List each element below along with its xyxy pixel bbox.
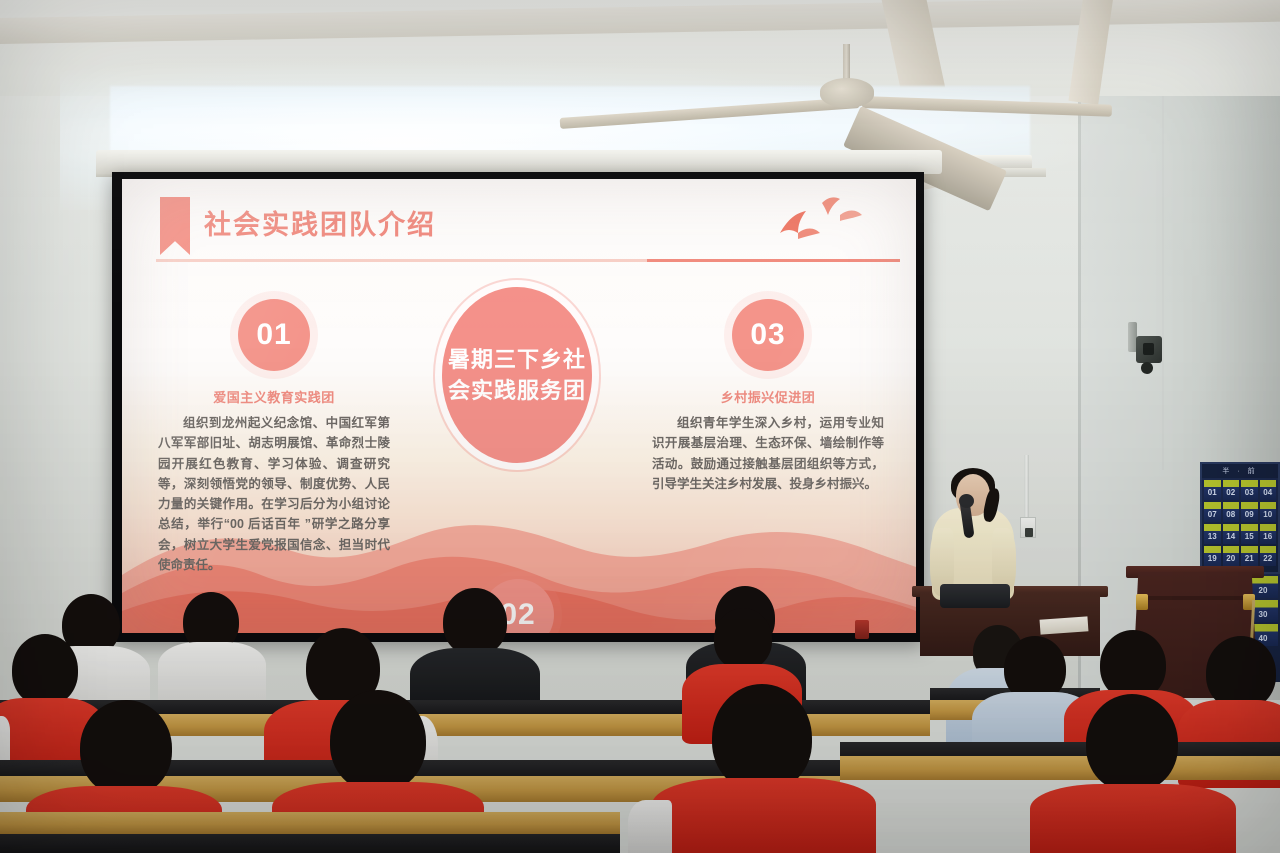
section-heading-01: 爱国主义教育实践团 (168, 387, 380, 406)
projector-screen-roller (96, 150, 942, 174)
number-board-cell: 07 (1204, 502, 1221, 522)
slide-title: 社会实践团队介绍 (204, 203, 436, 242)
number-board-cell: 01 (1204, 480, 1221, 500)
section-number-03: 03 (732, 299, 804, 371)
number-board-cell: 16 (1260, 524, 1277, 544)
center-badge: 暑期三下乡社会实践服务团 (442, 287, 592, 463)
number-board-cell: 13 (1204, 524, 1221, 544)
flying-birds-icon (766, 193, 874, 249)
number-board-grid: 01020304070809101314151619202122 (1202, 478, 1278, 568)
lectern-gold-trim (1136, 594, 1148, 610)
number-board-cell: 21 (1241, 546, 1258, 566)
camera-knob (1141, 362, 1153, 374)
classroom-scene: 社会实践团队介绍 01 03 02 暑期三下乡社会实践服务团 (0, 0, 1280, 853)
lectern-band (1136, 596, 1254, 600)
number-board-cell: 08 (1223, 502, 1240, 522)
number-board-cell: 15 (1241, 524, 1258, 544)
number-board-cell: 14 (1223, 524, 1240, 544)
section-heading-03: 乡村振兴促进团 (662, 387, 874, 406)
section-body-01: 组织到龙州起义纪念馆、中国红军第八军军部旧址、胡志明展馆、革命烈士陵园开展红色教… (158, 413, 390, 575)
number-board-header: 半 · 前 (1202, 464, 1278, 478)
number-board-cell: 04 (1260, 480, 1277, 500)
projected-slide: 社会实践团队介绍 01 03 02 暑期三下乡社会实践服务团 (122, 179, 916, 633)
section-body-03: 组织青年学生深入乡村，运用专业知识开展基层治理、生态环保、墙绘制作等活动。鼓励通… (652, 413, 884, 494)
ceiling-fan-hub (820, 78, 874, 108)
bookmark-ribbon-icon (160, 197, 190, 255)
number-board-cell: 20 (1223, 546, 1240, 566)
desk-surface (0, 812, 620, 834)
number-board-cell: 09 (1241, 502, 1258, 522)
title-divider (156, 259, 900, 262)
desk-surface (840, 756, 1280, 780)
section-number-01: 01 (238, 299, 310, 371)
center-badge-label: 暑期三下乡社会实践服务团 (442, 344, 592, 406)
number-board-cell: 02 (1223, 480, 1240, 500)
number-board: 半 · 前 01020304070809101314151619202122 (1200, 462, 1280, 574)
number-board-cell: 10 (1260, 502, 1277, 522)
beverage-can (855, 620, 869, 639)
number-board-cell: 22 (1260, 546, 1277, 566)
wall-conduit (1024, 455, 1029, 521)
number-board-cell: 03 (1241, 480, 1258, 500)
projection-screen-frame: 社会实践团队介绍 01 03 02 暑期三下乡社会实践服务团 (112, 172, 924, 642)
microphone-head-icon (959, 494, 974, 508)
presenter-laptop (940, 584, 1010, 608)
wall-socket-icon (1020, 517, 1036, 538)
camera-lens-icon (1143, 343, 1154, 355)
number-board-cell: 19 (1204, 546, 1221, 566)
